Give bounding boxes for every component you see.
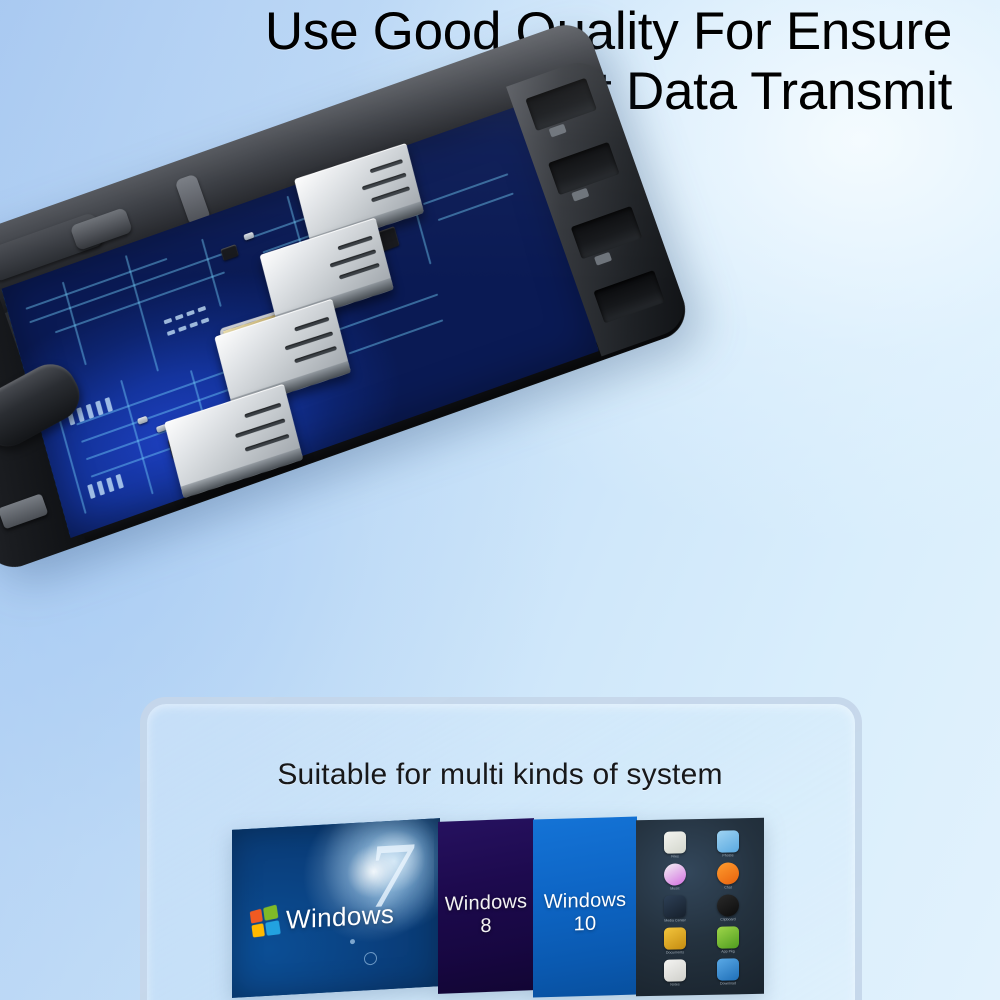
app-label: App Pkg	[721, 949, 735, 954]
app-icon[interactable]: Download	[709, 958, 747, 987]
app-label: Chat	[724, 885, 732, 890]
product-feature-image: Use Good Quality For Ensure Fast Data Tr…	[0, 0, 1000, 1000]
port-opening	[571, 206, 643, 259]
app-label: Notes	[670, 982, 679, 987]
app-icon[interactable]: Chat	[709, 862, 747, 891]
windows-flag-icon	[250, 904, 281, 937]
app-label: Clipboard	[720, 917, 735, 922]
sidewall-slot	[0, 493, 48, 529]
app-icon[interactable]: App Pkg	[709, 926, 747, 955]
app-glyph-icon	[664, 831, 686, 853]
app-glyph-icon	[664, 927, 686, 949]
app-glyph-icon	[717, 830, 739, 852]
app-glyph-icon	[717, 862, 739, 884]
port-opening	[548, 142, 620, 195]
os-screen-android: FilesPhotosMusicChatMedia CenterClipboar…	[636, 818, 764, 996]
app-label: Photos	[722, 853, 733, 858]
os-screen-windows-8: Windows 8	[438, 818, 534, 994]
os-screen-windows-7: 7 Windows	[232, 818, 440, 998]
app-label: Documents	[666, 950, 684, 955]
compatibility-caption: Suitable for multi kinds of system	[0, 758, 1000, 792]
app-glyph-icon	[717, 926, 739, 948]
app-label: Download	[720, 981, 736, 986]
headline-line-1: Use Good Quality For Ensure	[0, 2, 952, 62]
decor-orb	[364, 952, 377, 966]
app-glyph-icon	[717, 958, 739, 980]
app-icon[interactable]: Media Center	[656, 895, 694, 924]
app-icon[interactable]: Music	[656, 863, 694, 892]
port-opening	[593, 270, 665, 323]
app-glyph-icon	[664, 895, 686, 917]
windows-7-label: Windows	[286, 899, 394, 936]
app-icon[interactable]: Photos	[709, 830, 747, 859]
app-label: Files	[671, 854, 679, 859]
app-icon[interactable]: Clipboard	[709, 894, 747, 923]
port-opening	[525, 78, 597, 131]
app-icon[interactable]: Documents	[656, 927, 694, 956]
app-glyph-icon	[664, 959, 686, 981]
windows-8-label: Windows 8	[438, 890, 534, 940]
app-grid: FilesPhotosMusicChatMedia CenterClipboar…	[656, 830, 748, 988]
app-label: Music	[670, 886, 679, 891]
app-icon[interactable]: Files	[656, 831, 694, 860]
app-glyph-icon	[717, 894, 739, 916]
windows-10-label: Windows 10	[533, 889, 637, 938]
app-glyph-icon	[664, 863, 686, 885]
app-label: Media Center	[664, 918, 686, 923]
app-icon[interactable]: Notes	[656, 959, 694, 988]
os-screens-strip: 7 Windows Windows 8 Windows 10 FilesPhot…	[232, 818, 772, 996]
os-screen-windows-10: Windows 10	[533, 817, 637, 998]
